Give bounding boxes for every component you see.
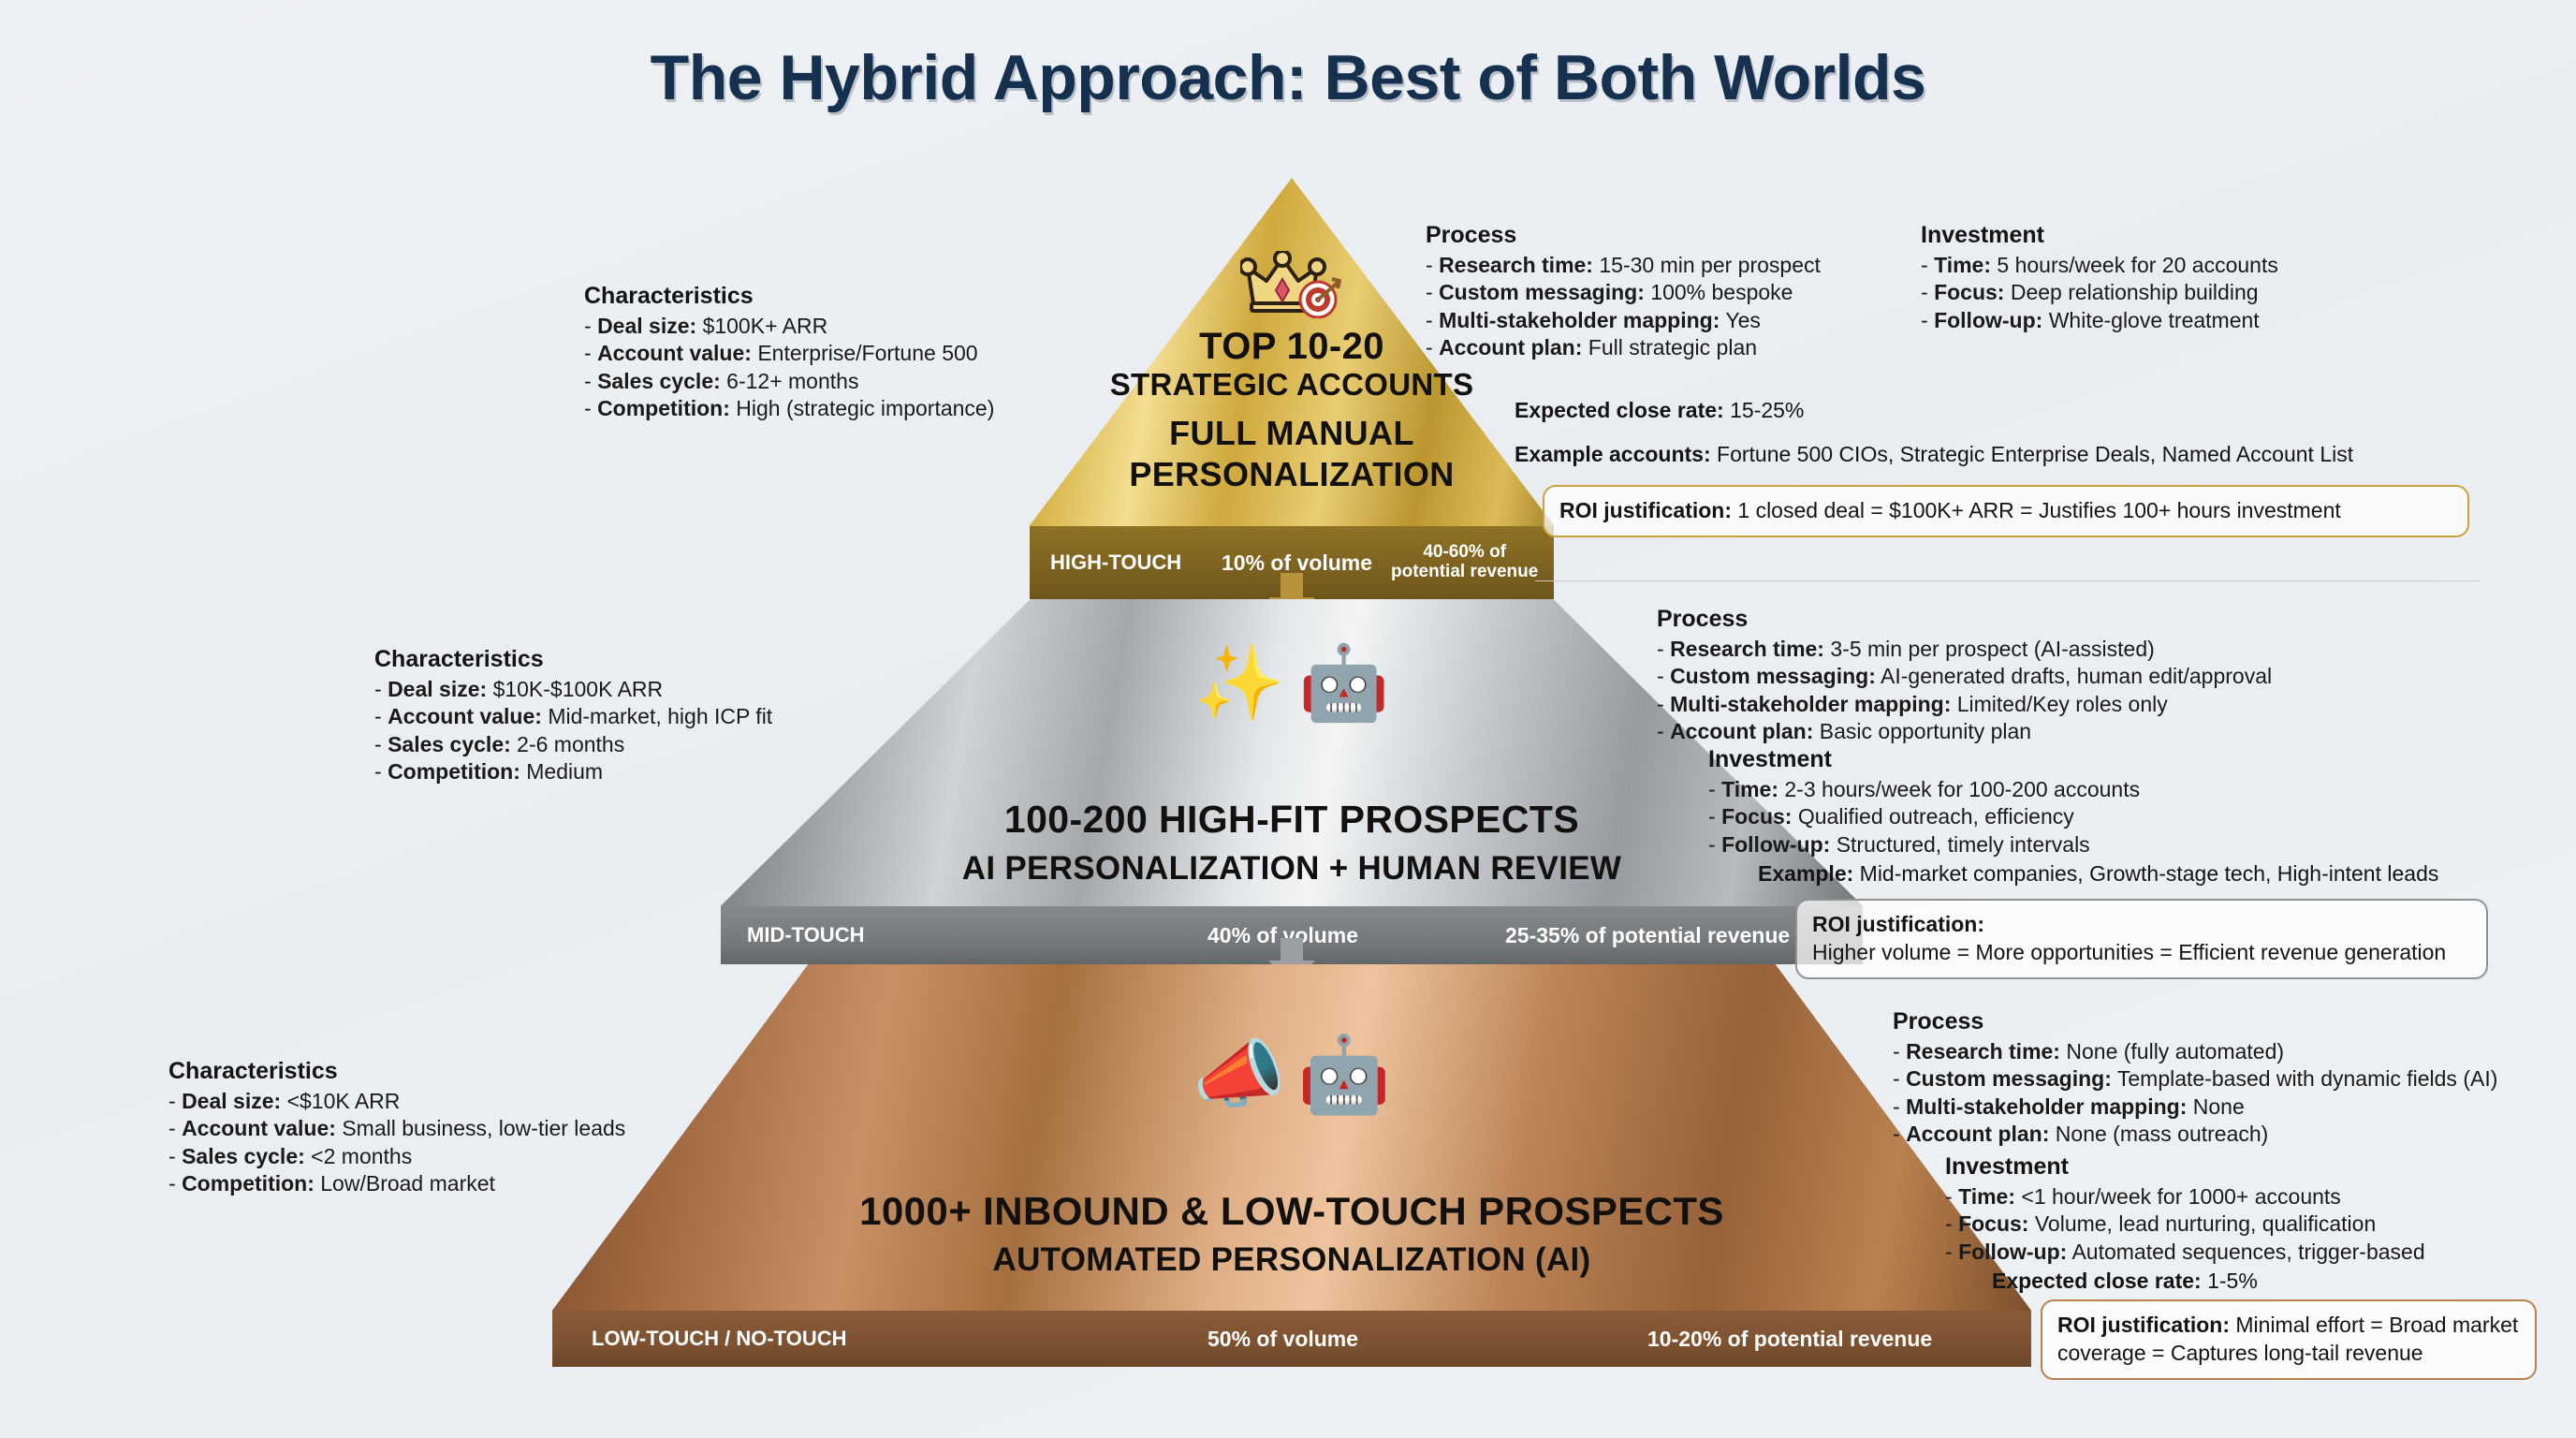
list-item: - Time: 2-3 hours/week for 100-200 accou… bbox=[1708, 776, 2140, 803]
silver-investment-block: Investment - Time: 2-3 hours/week for 10… bbox=[1708, 744, 2140, 858]
list-item: - Account value: Small business, low-tie… bbox=[168, 1115, 625, 1142]
bronze-characteristics-block: Characteristics - Deal size: <$10K ARR -… bbox=[168, 1056, 625, 1198]
gold-method-line2: PERSONALIZATION bbox=[1030, 455, 1554, 494]
gold-band-revenue: 40-60% of potential revenue bbox=[1391, 543, 1538, 582]
list-item: - Competition: High (strategic importanc… bbox=[584, 395, 994, 422]
list-item: - Multi-stakeholder mapping: Limited/Key… bbox=[1657, 691, 2272, 718]
list-item: - Focus: Deep relationship building bbox=[1921, 279, 2278, 306]
silver-characteristics-block: Characteristics - Deal size: $10K-$100K … bbox=[374, 644, 772, 786]
list-item: - Follow-up: Structured, timely interval… bbox=[1708, 831, 2140, 858]
bronze-tier-surface bbox=[552, 964, 2031, 1367]
bronze-close-rate: Expected close rate: 1-5% bbox=[1992, 1269, 2258, 1294]
bronze-investment-block: Investment - Time: <1 hour/week for 1000… bbox=[1945, 1152, 2425, 1266]
list-item: - Custom messaging: AI-generated drafts,… bbox=[1657, 663, 2272, 690]
list-item: - Sales cycle: <2 months bbox=[168, 1143, 625, 1170]
list-item: - Account plan: Basic opportunity plan bbox=[1657, 718, 2272, 745]
gold-method-line1: FULL MANUAL bbox=[1030, 414, 1554, 453]
robot-icon: 🤖 bbox=[1298, 641, 1389, 724]
bronze-band-revenue: 10-20% of potential revenue bbox=[1647, 1327, 1932, 1352]
list-item: - Research time: None (fully automated) bbox=[1893, 1038, 2497, 1065]
list-item: - Account plan: None (mass outreach) bbox=[1893, 1121, 2497, 1148]
block-heading: Characteristics bbox=[168, 1056, 625, 1086]
bronze-roi-box: ROI justification: Minimal effort = Broa… bbox=[2041, 1299, 2537, 1380]
silver-band-touch: MID-TOUCH bbox=[747, 923, 864, 947]
block-heading: Investment bbox=[1945, 1152, 2425, 1181]
list-item: - Research time: 15-30 min per prospect bbox=[1426, 252, 1821, 279]
gold-roi-box: ROI justification: 1 closed deal = $100K… bbox=[1543, 485, 2469, 537]
gold-process-block: Process - Research time: 15-30 min per p… bbox=[1426, 220, 1821, 362]
list-item: - Multi-stakeholder mapping: None bbox=[1893, 1093, 2497, 1121]
list-item: - Deal size: <$10K ARR bbox=[168, 1088, 625, 1115]
list-item: - Follow-up: White-glove treatment bbox=[1921, 307, 2278, 334]
list-item: - Account value: Enterprise/Fortune 500 bbox=[584, 340, 994, 367]
infographic-canvas: The Hybrid Approach: Best of Both Worlds… bbox=[0, 0, 2576, 1438]
gold-band-volume: 10% of volume bbox=[1222, 550, 1372, 576]
gold-investment-block: Investment - Time: 5 hours/week for 20 a… bbox=[1921, 220, 2278, 334]
list-item: - Competition: Low/Broad market bbox=[168, 1170, 625, 1197]
bronze-band: LOW-TOUCH / NO-TOUCH 50% of volume 10-20… bbox=[552, 1311, 2031, 1367]
block-heading: Characteristics bbox=[584, 281, 994, 311]
block-heading: Investment bbox=[1708, 744, 2140, 774]
gold-example-accounts: Example accounts: Fortune 500 CIOs, Stra… bbox=[1515, 442, 2353, 467]
bronze-band-touch: LOW-TOUCH / NO-TOUCH bbox=[592, 1327, 847, 1351]
silver-process-block: Process - Research time: 3-5 min per pro… bbox=[1657, 604, 2272, 746]
list-item: - Deal size: $100K+ ARR bbox=[584, 313, 994, 340]
list-item: - Account plan: Full strategic plan bbox=[1426, 334, 1821, 361]
list-item: - Focus: Volume, lead nurturing, qualifi… bbox=[1945, 1211, 2425, 1238]
page-title: The Hybrid Approach: Best of Both Worlds bbox=[0, 41, 2576, 114]
list-item: - Follow-up: Automated sequences, trigge… bbox=[1945, 1239, 2425, 1266]
block-heading: Process bbox=[1657, 604, 2272, 634]
megaphone-and-robot-icon: 📣🤖 bbox=[552, 1037, 2031, 1112]
list-item: - Sales cycle: 2-6 months bbox=[374, 731, 772, 758]
bronze-headline: 1000+ INBOUND & LOW-TOUCH PROSPECTS bbox=[552, 1189, 2031, 1234]
silver-roi-box: ROI justification:Higher volume = More o… bbox=[1795, 899, 2488, 979]
pyramid-tier-bronze: 📣🤖 1000+ INBOUND & LOW-TOUCH PROSPECTS A… bbox=[552, 964, 2031, 1367]
list-item: - Time: <1 hour/week for 1000+ accounts bbox=[1945, 1183, 2425, 1211]
robot-icon: 🤖 bbox=[1297, 1033, 1391, 1116]
list-item: - Custom messaging: 100% bespoke bbox=[1426, 279, 1821, 306]
list-item: - Multi-stakeholder mapping: Yes bbox=[1426, 307, 1821, 334]
silver-band-revenue: 25-35% of potential revenue bbox=[1505, 923, 1790, 948]
silver-method-line1: AI PERSONALIZATION + HUMAN REVIEW bbox=[721, 850, 1863, 888]
gold-subhead: STRATEGIC ACCOUNTS bbox=[1030, 367, 1554, 403]
block-heading: Investment bbox=[1921, 220, 2278, 250]
block-heading: Process bbox=[1893, 1006, 2497, 1036]
block-heading: Characteristics bbox=[374, 644, 772, 674]
bronze-method-line1: AUTOMATED PERSONALIZATION (AI) bbox=[552, 1241, 2031, 1279]
gold-divider bbox=[1535, 580, 2481, 581]
gold-close-rate: Expected close rate: 15-25% bbox=[1515, 398, 1804, 423]
list-item: - Deal size: $10K-$100K ARR bbox=[374, 676, 772, 703]
megaphone-icon: 📣 bbox=[1193, 1033, 1286, 1116]
silver-headline: 100-200 HIGH-FIT PROSPECTS bbox=[721, 798, 1863, 842]
list-item: - Time: 5 hours/week for 20 accounts bbox=[1921, 252, 2278, 279]
list-item: - Account value: Mid-market, high ICP fi… bbox=[374, 703, 772, 730]
list-item: - Custom messaging: Template-based with … bbox=[1893, 1065, 2497, 1093]
gold-characteristics-block: Characteristics - Deal size: $100K+ ARR … bbox=[584, 281, 994, 423]
sparkles-icon: ✨ bbox=[1194, 641, 1285, 724]
crown-dart-svg bbox=[1240, 251, 1343, 318]
bronze-band-volume: 50% of volume bbox=[1207, 1327, 1358, 1352]
list-item: - Focus: Qualified outreach, efficiency bbox=[1708, 803, 2140, 830]
list-item: - Research time: 3-5 min per prospect (A… bbox=[1657, 636, 2272, 663]
list-item: - Sales cycle: 6-12+ months bbox=[584, 368, 994, 395]
bronze-process-block: Process - Research time: None (fully aut… bbox=[1893, 1006, 2497, 1149]
gold-band-touch: HIGH-TOUCH bbox=[1050, 550, 1181, 575]
block-heading: Process bbox=[1426, 220, 1821, 250]
list-item: - Competition: Medium bbox=[374, 758, 772, 785]
silver-example: Example: Mid-market companies, Growth-st… bbox=[1758, 861, 2438, 887]
